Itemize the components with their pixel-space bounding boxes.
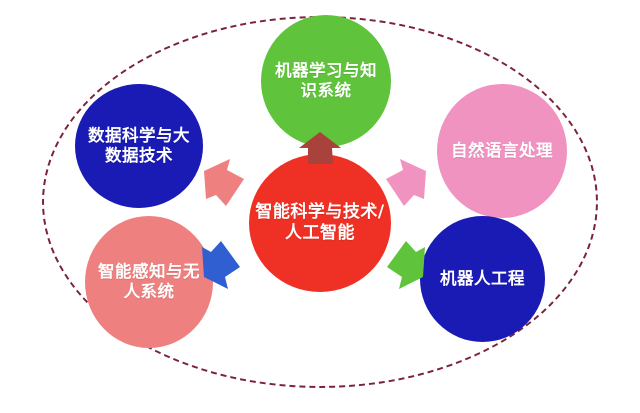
node-robotics-engineering-label: 机器人工程 [434, 269, 531, 289]
node-machine-learning[interactable]: 机器学习与知识系统 [261, 15, 391, 147]
arrow-center-to-intelligent-sensing-icon [198, 237, 244, 291]
node-data-science[interactable]: 数据科学与大数据技术 [75, 84, 203, 208]
node-center-intelligent-science[interactable]: 智能科学与技术/人工智能 [249, 154, 391, 292]
node-natural-language-processing-label: 自然语言处理 [445, 141, 559, 161]
arrow-center-to-machine-learning-icon [296, 131, 344, 165]
node-center-label: 智能科学与技术/人工智能 [249, 202, 391, 244]
arrow-center-to-robotics-icon [383, 237, 429, 291]
node-natural-language-processing[interactable]: 自然语言处理 [437, 84, 567, 218]
node-intelligent-sensing[interactable]: 智能感知与无人系统 [85, 216, 213, 348]
node-intelligent-sensing-label: 智能感知与无人系统 [85, 262, 213, 303]
diagram-canvas: 机器学习与知识系统 数据科学与大数据技术 自然语言处理 机器人工程 智能感知与无… [0, 0, 640, 413]
node-robotics-engineering[interactable]: 机器人工程 [420, 216, 545, 342]
arrow-center-to-data-science-icon [200, 157, 248, 209]
node-data-science-label: 数据科学与大数据技术 [75, 126, 203, 167]
arrow-center-to-nlp-icon [382, 157, 430, 209]
node-machine-learning-label: 机器学习与知识系统 [261, 61, 391, 102]
